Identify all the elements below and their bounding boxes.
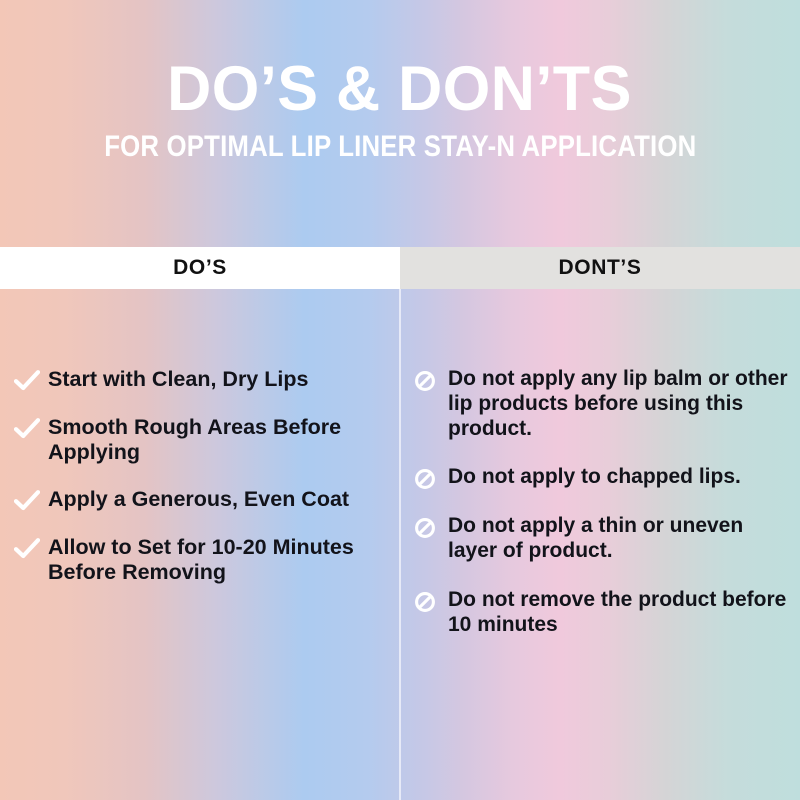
prohibition-icon — [414, 517, 436, 539]
check-icon — [14, 537, 40, 561]
list-item: Allow to Set for 10-20 Minutes Before Re… — [14, 535, 394, 585]
check-icon — [14, 417, 40, 441]
list-item: Do not apply to chapped lips. — [414, 465, 796, 490]
list-item-text: Start with Clean, Dry Lips — [48, 367, 308, 392]
dos-list: Start with Clean, Dry Lips Smooth Rough … — [14, 367, 394, 585]
prohibition-icon — [414, 591, 436, 613]
list-item: Do not apply any lip balm or other lip p… — [414, 367, 796, 441]
list-item-text: Do not apply to chapped lips. — [448, 465, 741, 490]
list-item: Smooth Rough Areas Before Applying — [14, 415, 394, 465]
page-subtitle: FOR OPTIMAL LIP LINER STAY-N APPLICATION — [104, 132, 696, 162]
prohibition-icon — [414, 468, 436, 490]
donts-list: Do not apply any lip balm or other lip p… — [414, 367, 796, 637]
check-icon — [14, 369, 40, 393]
list-item: Do not remove the product before 10 minu… — [414, 588, 796, 638]
columns-container: Start with Clean, Dry Lips Smooth Rough … — [0, 289, 800, 800]
list-item-text: Do not remove the product before 10 minu… — [448, 588, 796, 638]
column-header-dos: DO’S — [0, 247, 400, 289]
column-header-bar: DO’S DONT’S — [0, 247, 800, 289]
prohibition-icon — [414, 370, 436, 392]
dos-column: Start with Clean, Dry Lips Smooth Rough … — [0, 289, 400, 800]
donts-column: Do not apply any lip balm or other lip p… — [400, 289, 800, 800]
dos-and-donts-poster: DO’S & DON’TS FOR OPTIMAL LIP LINER STAY… — [0, 0, 800, 800]
list-item-text: Apply a Generous, Even Coat — [48, 487, 349, 512]
list-item-text: Do not apply a thin or uneven layer of p… — [448, 514, 796, 564]
page-title: DO’S & DON’TS — [168, 58, 633, 121]
list-item: Apply a Generous, Even Coat — [14, 487, 394, 513]
list-item: Start with Clean, Dry Lips — [14, 367, 394, 393]
list-item-text: Allow to Set for 10-20 Minutes Before Re… — [48, 535, 394, 585]
check-icon — [14, 489, 40, 513]
list-item-text: Do not apply any lip balm or other lip p… — [448, 367, 796, 441]
column-header-donts: DONT’S — [400, 247, 800, 289]
list-item-text: Smooth Rough Areas Before Applying — [48, 415, 394, 465]
poster-header: DO’S & DON’TS FOR OPTIMAL LIP LINER STAY… — [0, 0, 800, 247]
list-item: Do not apply a thin or uneven layer of p… — [414, 514, 796, 564]
